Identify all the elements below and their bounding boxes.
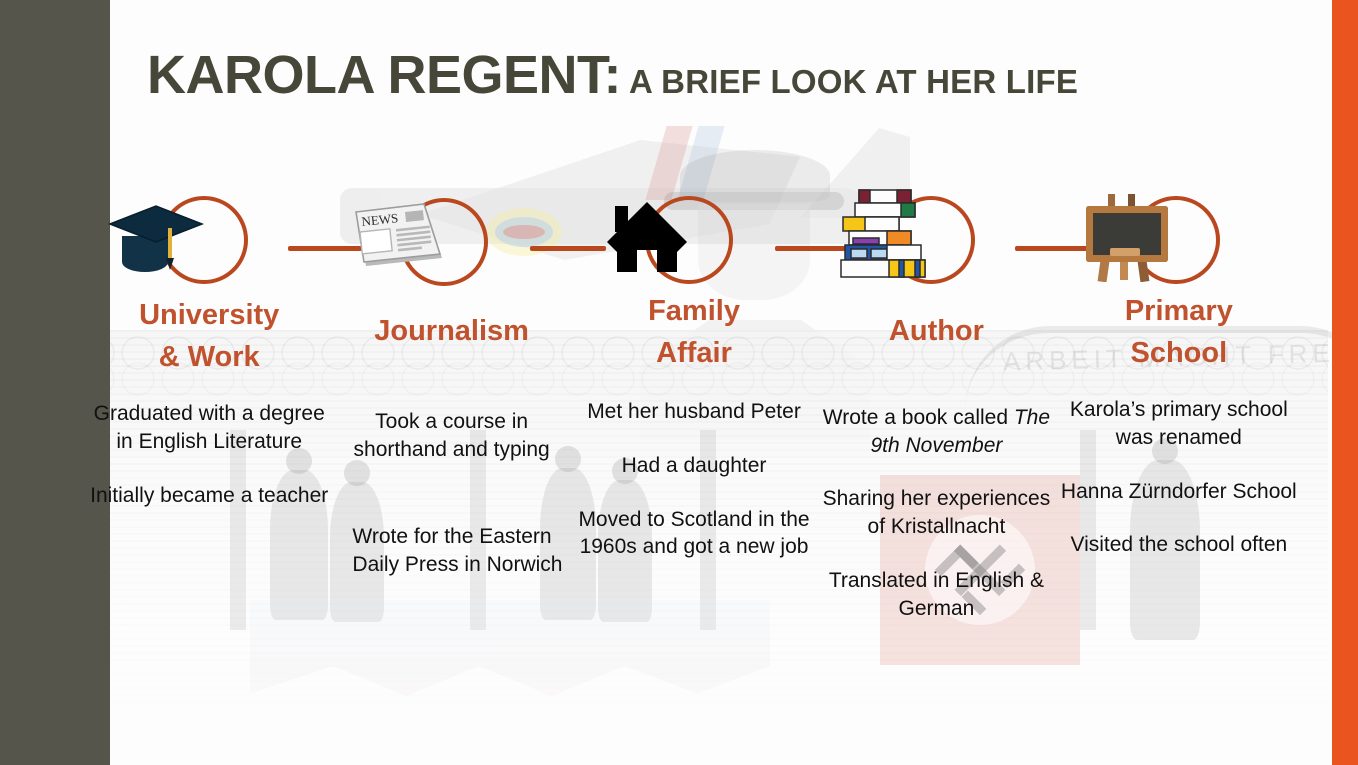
list-item: Initially became a teacher xyxy=(88,482,330,510)
newspaper-icon: NEWS xyxy=(348,200,448,277)
column-primary-school: Primary School Karola’s primary school w… xyxy=(1058,178,1300,738)
list-item: Hanna Zürndorfer School xyxy=(1058,478,1300,506)
title-subtitle: A BRIEF LOOK AT HER LIFE xyxy=(629,63,1078,100)
list-item: Met her husband Peter xyxy=(573,398,815,426)
page-title: KAROLA REGENT:A BRIEF LOOK AT HER LIFE xyxy=(147,44,1078,106)
list-item: Had a daughter xyxy=(573,452,815,480)
list-item: Moved to Scotland in the 1960s and got a… xyxy=(573,506,815,561)
icon-area xyxy=(88,178,330,288)
right-accent-bar xyxy=(1332,0,1358,765)
list-item: Wrote for the Eastern Daily Press in Nor… xyxy=(330,523,572,578)
graduation-cap-icon xyxy=(106,194,210,285)
column-body: Took a course in shorthand and typing Wr… xyxy=(330,408,572,579)
column-body: Karola’s primary school was renamed Hann… xyxy=(1058,396,1300,559)
stacked-books-icon xyxy=(835,186,931,289)
timeline-columns: University & Work Graduated with a degre… xyxy=(88,178,1300,738)
list-item: Karola’s primary school was renamed xyxy=(1058,396,1300,451)
column-body: Met her husband Peter Had a daughter Mov… xyxy=(573,398,815,561)
title-main: KAROLA REGENT: xyxy=(147,45,621,105)
column-heading: Primary School xyxy=(1058,290,1300,374)
column-heading: University & Work xyxy=(88,294,330,378)
blackboard-easel-icon xyxy=(1078,190,1178,287)
column-heading: Author xyxy=(815,310,1057,352)
column-body: Graduated with a degree in English Liter… xyxy=(88,400,330,509)
list-item: Wrote a book called The 9th November xyxy=(815,404,1057,459)
icon-area xyxy=(573,178,815,288)
column-heading: Journalism xyxy=(330,310,572,352)
column-body: Wrote a book called The 9th November Sha… xyxy=(815,404,1057,622)
list-item: Translated in English & German xyxy=(815,567,1057,622)
column-author: Author Wrote a book called The 9th Novem… xyxy=(815,178,1057,738)
list-item: Took a course in shorthand and typing xyxy=(330,408,572,463)
column-family-affair: Family Affair Met her husband Peter Had … xyxy=(573,178,815,738)
column-journalism: NEWS Journalism Took a course xyxy=(330,178,572,738)
icon-area xyxy=(1058,178,1300,288)
list-item: Graduated with a degree in English Liter… xyxy=(88,400,330,455)
house-icon xyxy=(601,190,693,279)
icon-area xyxy=(815,178,1057,288)
column-university-work: University & Work Graduated with a degre… xyxy=(88,178,330,738)
icon-area: NEWS xyxy=(330,178,572,288)
slide-canvas: ARBEIT MACHT FREI KAROLA REGENT:A BRIEF … xyxy=(0,0,1358,765)
list-item: Visited the school often xyxy=(1058,531,1300,559)
column-heading: Family Affair xyxy=(573,290,815,374)
list-item: Sharing her experiences of Kristallnacht xyxy=(815,485,1057,540)
